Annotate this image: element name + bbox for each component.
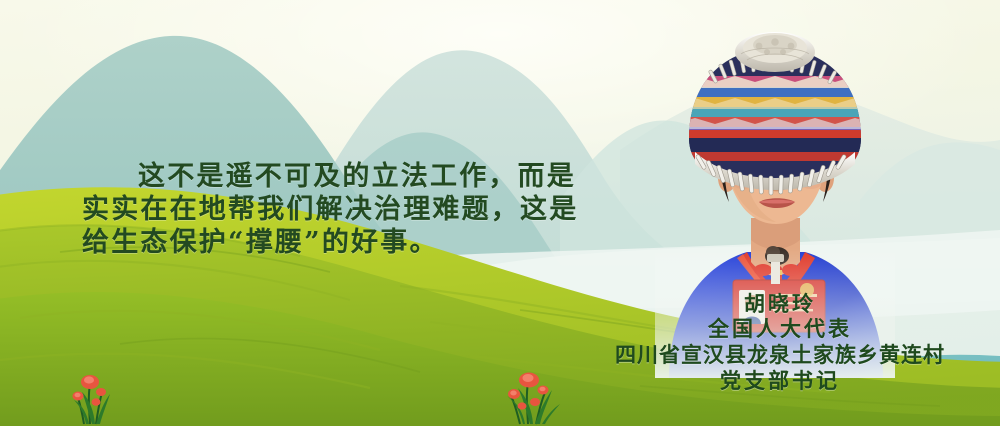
- quote-line-2: 实实在在地帮我们解决治理难题，这是: [82, 193, 652, 226]
- attribution-block: 胡晓玲 全国人大代表 四川省宣汉县龙泉土家族乡黄连村 党支部书记: [560, 291, 1000, 394]
- flower-cluster-left: [66, 362, 126, 426]
- quote-line-1: 这不是遥不可及的立法工作，而是: [82, 160, 652, 193]
- attribution-role: 全国人大代表: [560, 316, 1000, 342]
- flower-cluster-center: [498, 356, 564, 426]
- quote-text: 这不是遥不可及的立法工作，而是 实实在在地帮我们解决治理难题，这是 给生态保护“…: [82, 160, 652, 259]
- attribution-title: 党支部书记: [560, 368, 1000, 394]
- attribution-org: 四川省宣汉县龙泉土家族乡黄连村: [560, 342, 1000, 368]
- attribution-name: 胡晓玲: [560, 291, 1000, 316]
- quote-line-3: 给生态保护“撑腰”的好事。: [82, 226, 652, 259]
- banner-stage: 这不是遥不可及的立法工作，而是 实实在在地帮我们解决治理难题，这是 给生态保护“…: [0, 0, 1000, 426]
